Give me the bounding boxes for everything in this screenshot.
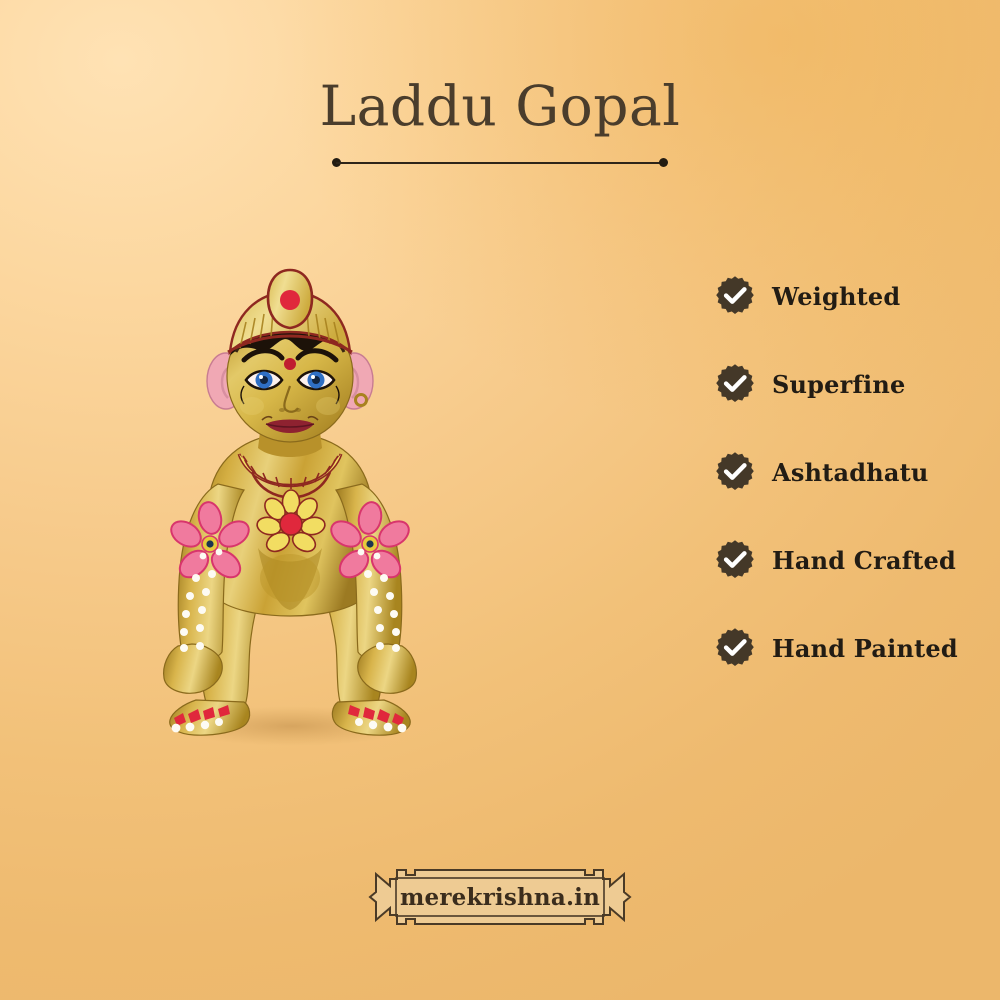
title-block: Laddu Gopal: [0, 78, 1000, 170]
feature-item: Weighted: [714, 268, 994, 324]
check-badge-icon: [714, 627, 756, 669]
check-badge-icon: [714, 275, 756, 317]
crown-jewel: [280, 290, 300, 310]
feature-label: Hand Crafted: [772, 546, 956, 575]
website-plaque[interactable]: merekrishna.in: [366, 866, 634, 928]
divider-dot-right: [659, 158, 668, 167]
product-poster: Laddu Gopal: [0, 0, 1000, 1000]
feature-label: Hand Painted: [772, 634, 958, 663]
feature-item: Hand Painted: [714, 620, 994, 676]
check-badge-icon: [714, 451, 756, 493]
feature-list: Weighted Superfine Ashtadhatu: [714, 268, 994, 676]
title-divider: [332, 156, 668, 170]
feature-item: Ashtadhatu: [714, 444, 994, 500]
check-badge-icon: [714, 363, 756, 405]
feature-item: Superfine: [714, 356, 994, 412]
feature-label: Superfine: [772, 370, 905, 399]
feature-label: Weighted: [772, 282, 900, 311]
feature-label: Ashtadhatu: [772, 458, 929, 487]
website-url[interactable]: merekrishna.in: [366, 866, 634, 928]
product-image: [140, 248, 440, 748]
bindi: [284, 358, 296, 370]
check-badge-icon: [714, 539, 756, 581]
divider-line: [336, 162, 664, 164]
page-title: Laddu Gopal: [0, 78, 1000, 136]
feature-item: Hand Crafted: [714, 532, 994, 588]
